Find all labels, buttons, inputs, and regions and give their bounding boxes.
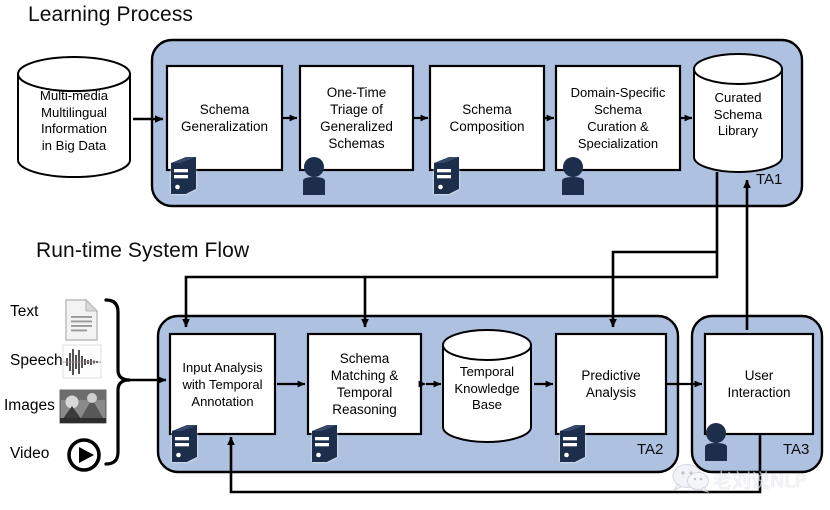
box-schema-matching [308, 334, 421, 434]
multi-media-source-cylinder [18, 57, 130, 177]
ta1-label: TA1 [756, 171, 782, 188]
server-icon-predictive-analysis [560, 425, 585, 462]
box-predictive-analysis [556, 334, 666, 434]
server-icon-schema-composition [434, 157, 459, 194]
box-schema-generalization [167, 66, 282, 170]
input-label-images: Images [4, 397, 55, 415]
server-icon-schema-matching [312, 425, 337, 462]
input-brace [106, 300, 130, 464]
input-label-video: Video [10, 445, 49, 463]
diagram-canvas: Learning Process Run-time System Flow [0, 0, 830, 510]
input-label-text: Text [10, 303, 38, 321]
photo-icon [60, 390, 106, 423]
curated-schema-library-cylinder [694, 54, 782, 172]
server-icon-schema-generalization [171, 157, 196, 194]
waveform-icon [63, 345, 101, 378]
ta3-label: TA3 [783, 441, 809, 458]
ta2-label: TA2 [637, 441, 663, 458]
box-schema-composition [430, 66, 544, 170]
box-user-interaction [705, 334, 813, 434]
box-domain-specific-curation [556, 66, 680, 170]
watermark-text: 老刘说NLP [713, 466, 806, 493]
server-icon-input-analysis [172, 425, 197, 462]
input-label-speech: Speech [10, 352, 63, 370]
box-input-analysis [170, 334, 275, 434]
play-circle-icon [69, 440, 99, 470]
temporal-knowledge-base-cylinder [443, 330, 531, 442]
diagram-graphics [0, 0, 830, 510]
box-one-time-triage [300, 66, 413, 170]
document-icon [66, 300, 97, 340]
